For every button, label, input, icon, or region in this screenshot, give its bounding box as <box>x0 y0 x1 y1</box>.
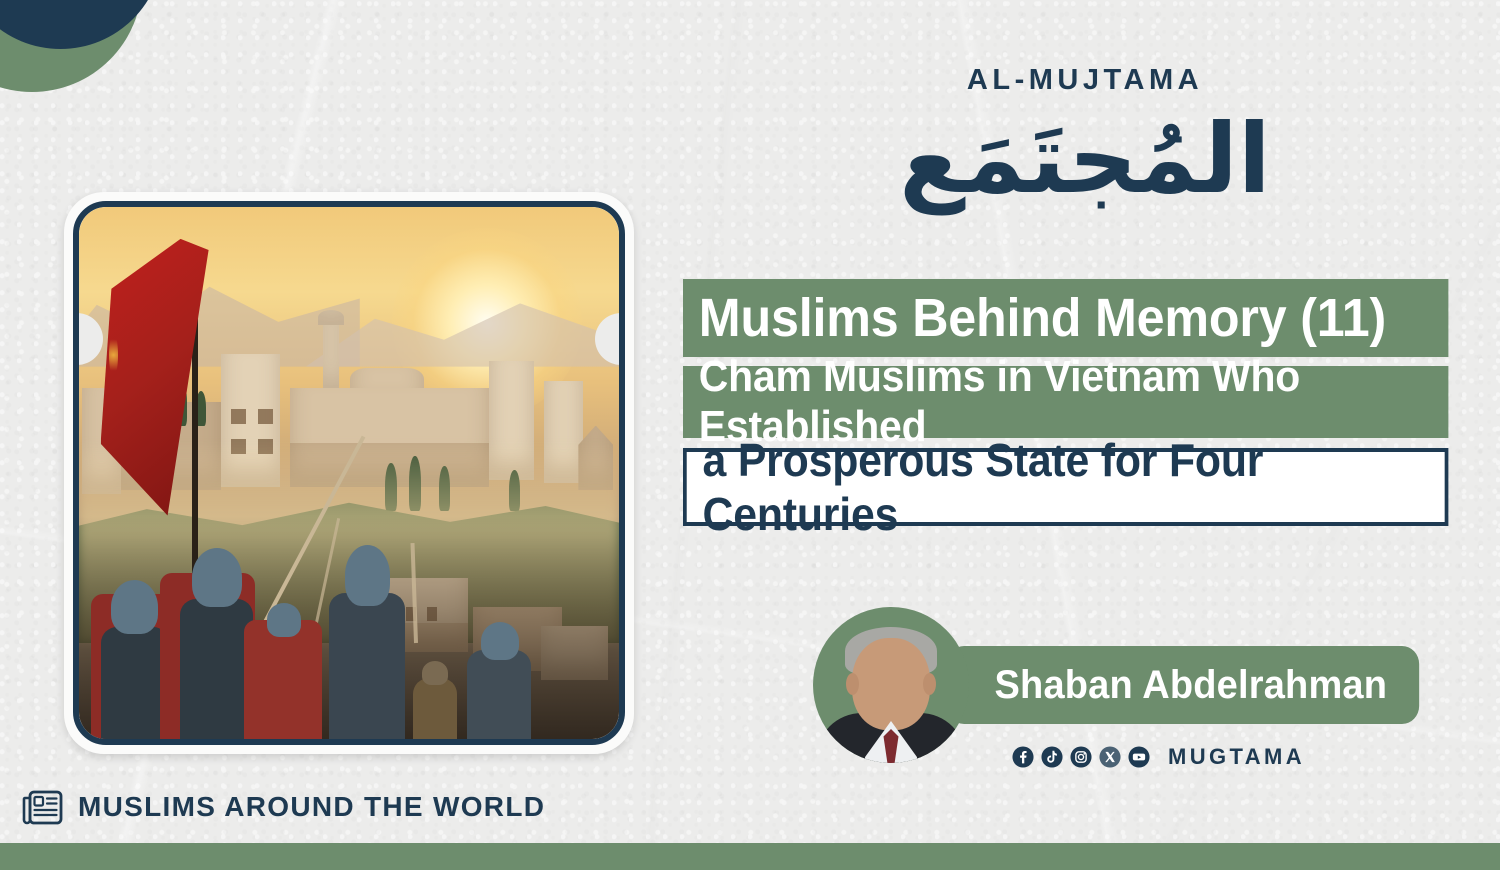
avatar <box>813 607 969 763</box>
hero-illustration <box>79 207 619 739</box>
soldier-figure <box>457 611 543 739</box>
author-row: Shaban Abdelrahman <box>813 607 1444 763</box>
poster-canvas: AL-MUJTAMA المُجتَمَع Muslims Behind Mem… <box>0 0 1500 870</box>
instagram-icon[interactable] <box>1070 746 1092 768</box>
newspaper-icon <box>22 789 64 825</box>
avatar-ear-left <box>846 673 859 695</box>
headline-line-3: a Prosperous State for Four Centuries <box>683 448 1448 526</box>
brand-arabic-calligraphy: المُجتَمَع <box>830 99 1340 219</box>
tiktok-icon[interactable] <box>1041 746 1063 768</box>
bottom-accent-bar <box>0 843 1500 870</box>
footer: MUSLIMS AROUND THE WORLD <box>22 789 545 825</box>
soldier-figure <box>241 601 327 739</box>
brand-logo[interactable]: AL-MUJTAMA المُجتَمَع <box>830 64 1340 219</box>
avatar-face <box>852 638 930 730</box>
corner-circle-navy <box>0 0 163 49</box>
footer-label: MUSLIMS AROUND THE WORLD <box>78 791 545 823</box>
banner-emblem <box>109 333 118 377</box>
facebook-icon[interactable] <box>1012 746 1034 768</box>
social-strip: MUGTAMA <box>1012 744 1305 770</box>
headline-group: Muslims Behind Memory (11) Cham Muslims … <box>683 279 1448 526</box>
hero-inner-border <box>73 201 625 745</box>
hero-image-card <box>64 192 634 754</box>
soldier-figure <box>403 654 468 739</box>
author-name: Shaban Abdelrahman <box>947 646 1419 724</box>
avatar-ear-right <box>923 673 936 695</box>
x-twitter-icon[interactable] <box>1099 746 1121 768</box>
headline-line-2: Cham Muslims in Vietnam Who Established <box>683 366 1448 438</box>
headline-line-1: Muslims Behind Memory (11) <box>683 279 1448 357</box>
youtube-icon[interactable] <box>1128 746 1150 768</box>
brand-name: AL-MUJTAMA <box>830 64 1340 97</box>
social-handle: MUGTAMA <box>1168 744 1305 770</box>
